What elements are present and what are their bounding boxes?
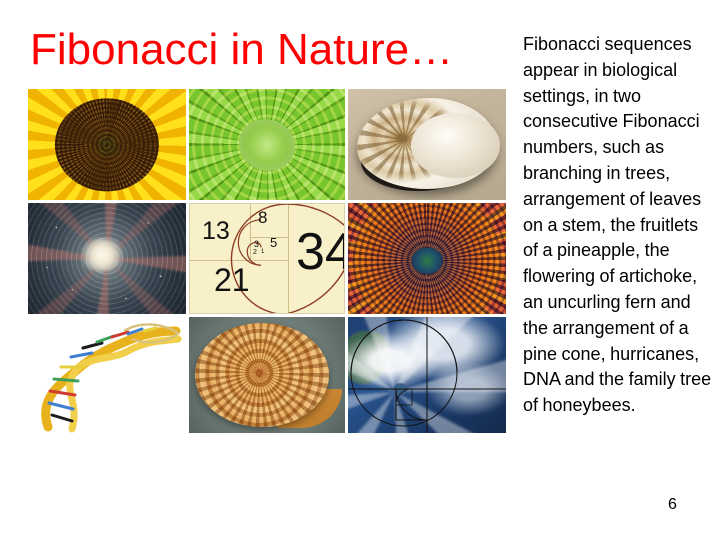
- hurricane-golden-spiral-overlay: [348, 317, 506, 433]
- fib-number-1: 1: [261, 249, 264, 255]
- fib-number-5: 5: [270, 236, 277, 249]
- image-tile-fern: [189, 317, 345, 433]
- sunflower-seed-spiral: [55, 98, 159, 191]
- dna-image: [28, 317, 186, 433]
- image-tile-dna: [28, 317, 186, 433]
- galaxy-image: [28, 203, 186, 314]
- image-tile-sunflower: [28, 89, 186, 200]
- coneflower-core: [411, 247, 443, 274]
- body-paragraph: Fibonacci sequences appear in biological…: [523, 32, 713, 419]
- image-tile-fibonacci-diagram: 34 21 13 8 5 3 2 1: [189, 203, 345, 314]
- image-tile-succulent: [189, 89, 345, 200]
- fib-number-8: 8: [258, 209, 267, 226]
- fibonacci-diagram: 34 21 13 8 5 3 2 1: [189, 203, 345, 314]
- coneflower-image: [348, 203, 506, 314]
- image-tile-coneflower: [348, 203, 506, 314]
- slide: Fibonacci in Nature… Fibonacci sequences…: [0, 0, 720, 540]
- sunflower-image: [28, 89, 186, 200]
- fib-number-21: 21: [214, 264, 250, 296]
- fib-number-3: 3: [254, 240, 259, 249]
- page-number: 6: [668, 496, 677, 514]
- fib-number-34: 34: [296, 226, 345, 278]
- galaxy-stars: [28, 203, 186, 314]
- page-title: Fibonacci in Nature…: [30, 24, 500, 78]
- nautilus-image: [348, 89, 506, 200]
- image-tile-galaxy: [28, 203, 186, 314]
- image-tile-nautilus: [348, 89, 506, 200]
- fern-image: [189, 317, 345, 433]
- fib-number-13: 13: [202, 219, 230, 244]
- fern-coil-rings: [195, 323, 329, 427]
- nautilus-body-whorl: [411, 113, 499, 177]
- dna-helix: [28, 317, 186, 433]
- image-grid: 34 21 13 8 5 3 2 1: [28, 89, 506, 441]
- fib-number-2: 2: [253, 249, 257, 256]
- succulent-image: [189, 89, 345, 200]
- hurricane-image: [348, 317, 506, 433]
- image-tile-hurricane: [348, 317, 506, 433]
